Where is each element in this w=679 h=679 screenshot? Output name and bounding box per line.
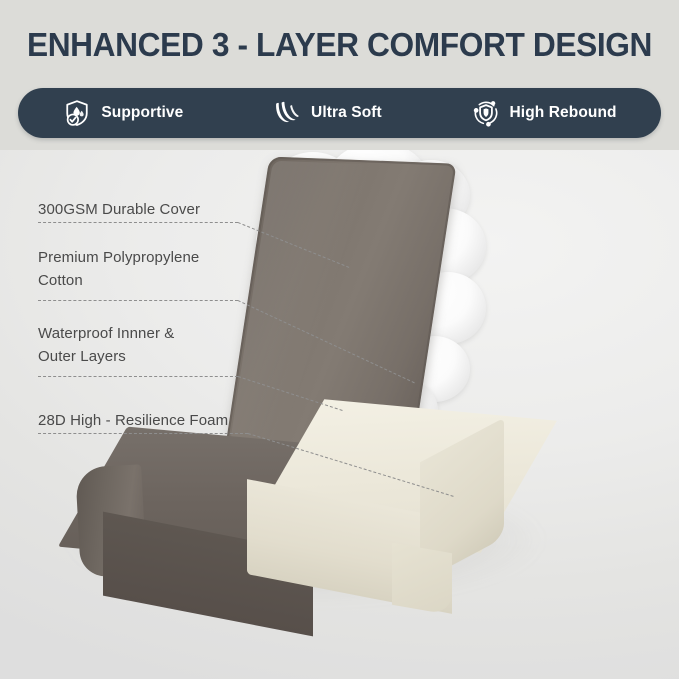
feature-badge-bar: Supportive Ultra Soft [18, 88, 661, 138]
product-infographic: ENHANCED 3 - LAYER COMFORT DESIGN Suppor… [0, 0, 679, 679]
callout-cover: 300GSM Durable Cover [38, 198, 200, 221]
shield-droplet-check-icon [62, 98, 92, 128]
callout-waterproof-underline [38, 376, 238, 377]
callout-cotton-line1: Premium Polypropylene [38, 246, 199, 269]
callout-cotton: Premium Polypropylene Cotton [38, 246, 199, 293]
callout-waterproof-line1: Waterproof Innner & [38, 322, 174, 345]
feature-label-supportive: Supportive [101, 104, 183, 122]
callout-waterproof-line2: Outer Layers [38, 345, 174, 368]
feature-label-ultra-soft: Ultra Soft [311, 104, 382, 122]
feature-badge-ultra-soft[interactable]: Ultra Soft [268, 98, 386, 128]
feather-icon [272, 98, 302, 128]
callout-foam-underline [38, 433, 248, 434]
callout-foam-line1: 28D High - Resilience Foam [38, 412, 228, 429]
page-title: ENHANCED 3 - LAYER COMFORT DESIGN [14, 26, 666, 64]
shield-orbit-icon [471, 98, 501, 128]
callout-cover-line1: 300GSM Durable Cover [38, 201, 200, 218]
feature-badge-high-rebound[interactable]: High Rebound [467, 98, 621, 128]
callout-foam: 28D High - Resilience Foam [38, 409, 228, 432]
feature-badge-supportive[interactable]: Supportive [58, 98, 187, 128]
feature-label-high-rebound: High Rebound [510, 104, 617, 122]
seat-foam-corner [392, 543, 452, 616]
callout-cover-underline [38, 222, 238, 223]
callout-cotton-underline [38, 300, 238, 301]
callout-waterproof: Waterproof Innner & Outer Layers [38, 322, 174, 369]
callout-cotton-line2: Cotton [38, 269, 199, 292]
